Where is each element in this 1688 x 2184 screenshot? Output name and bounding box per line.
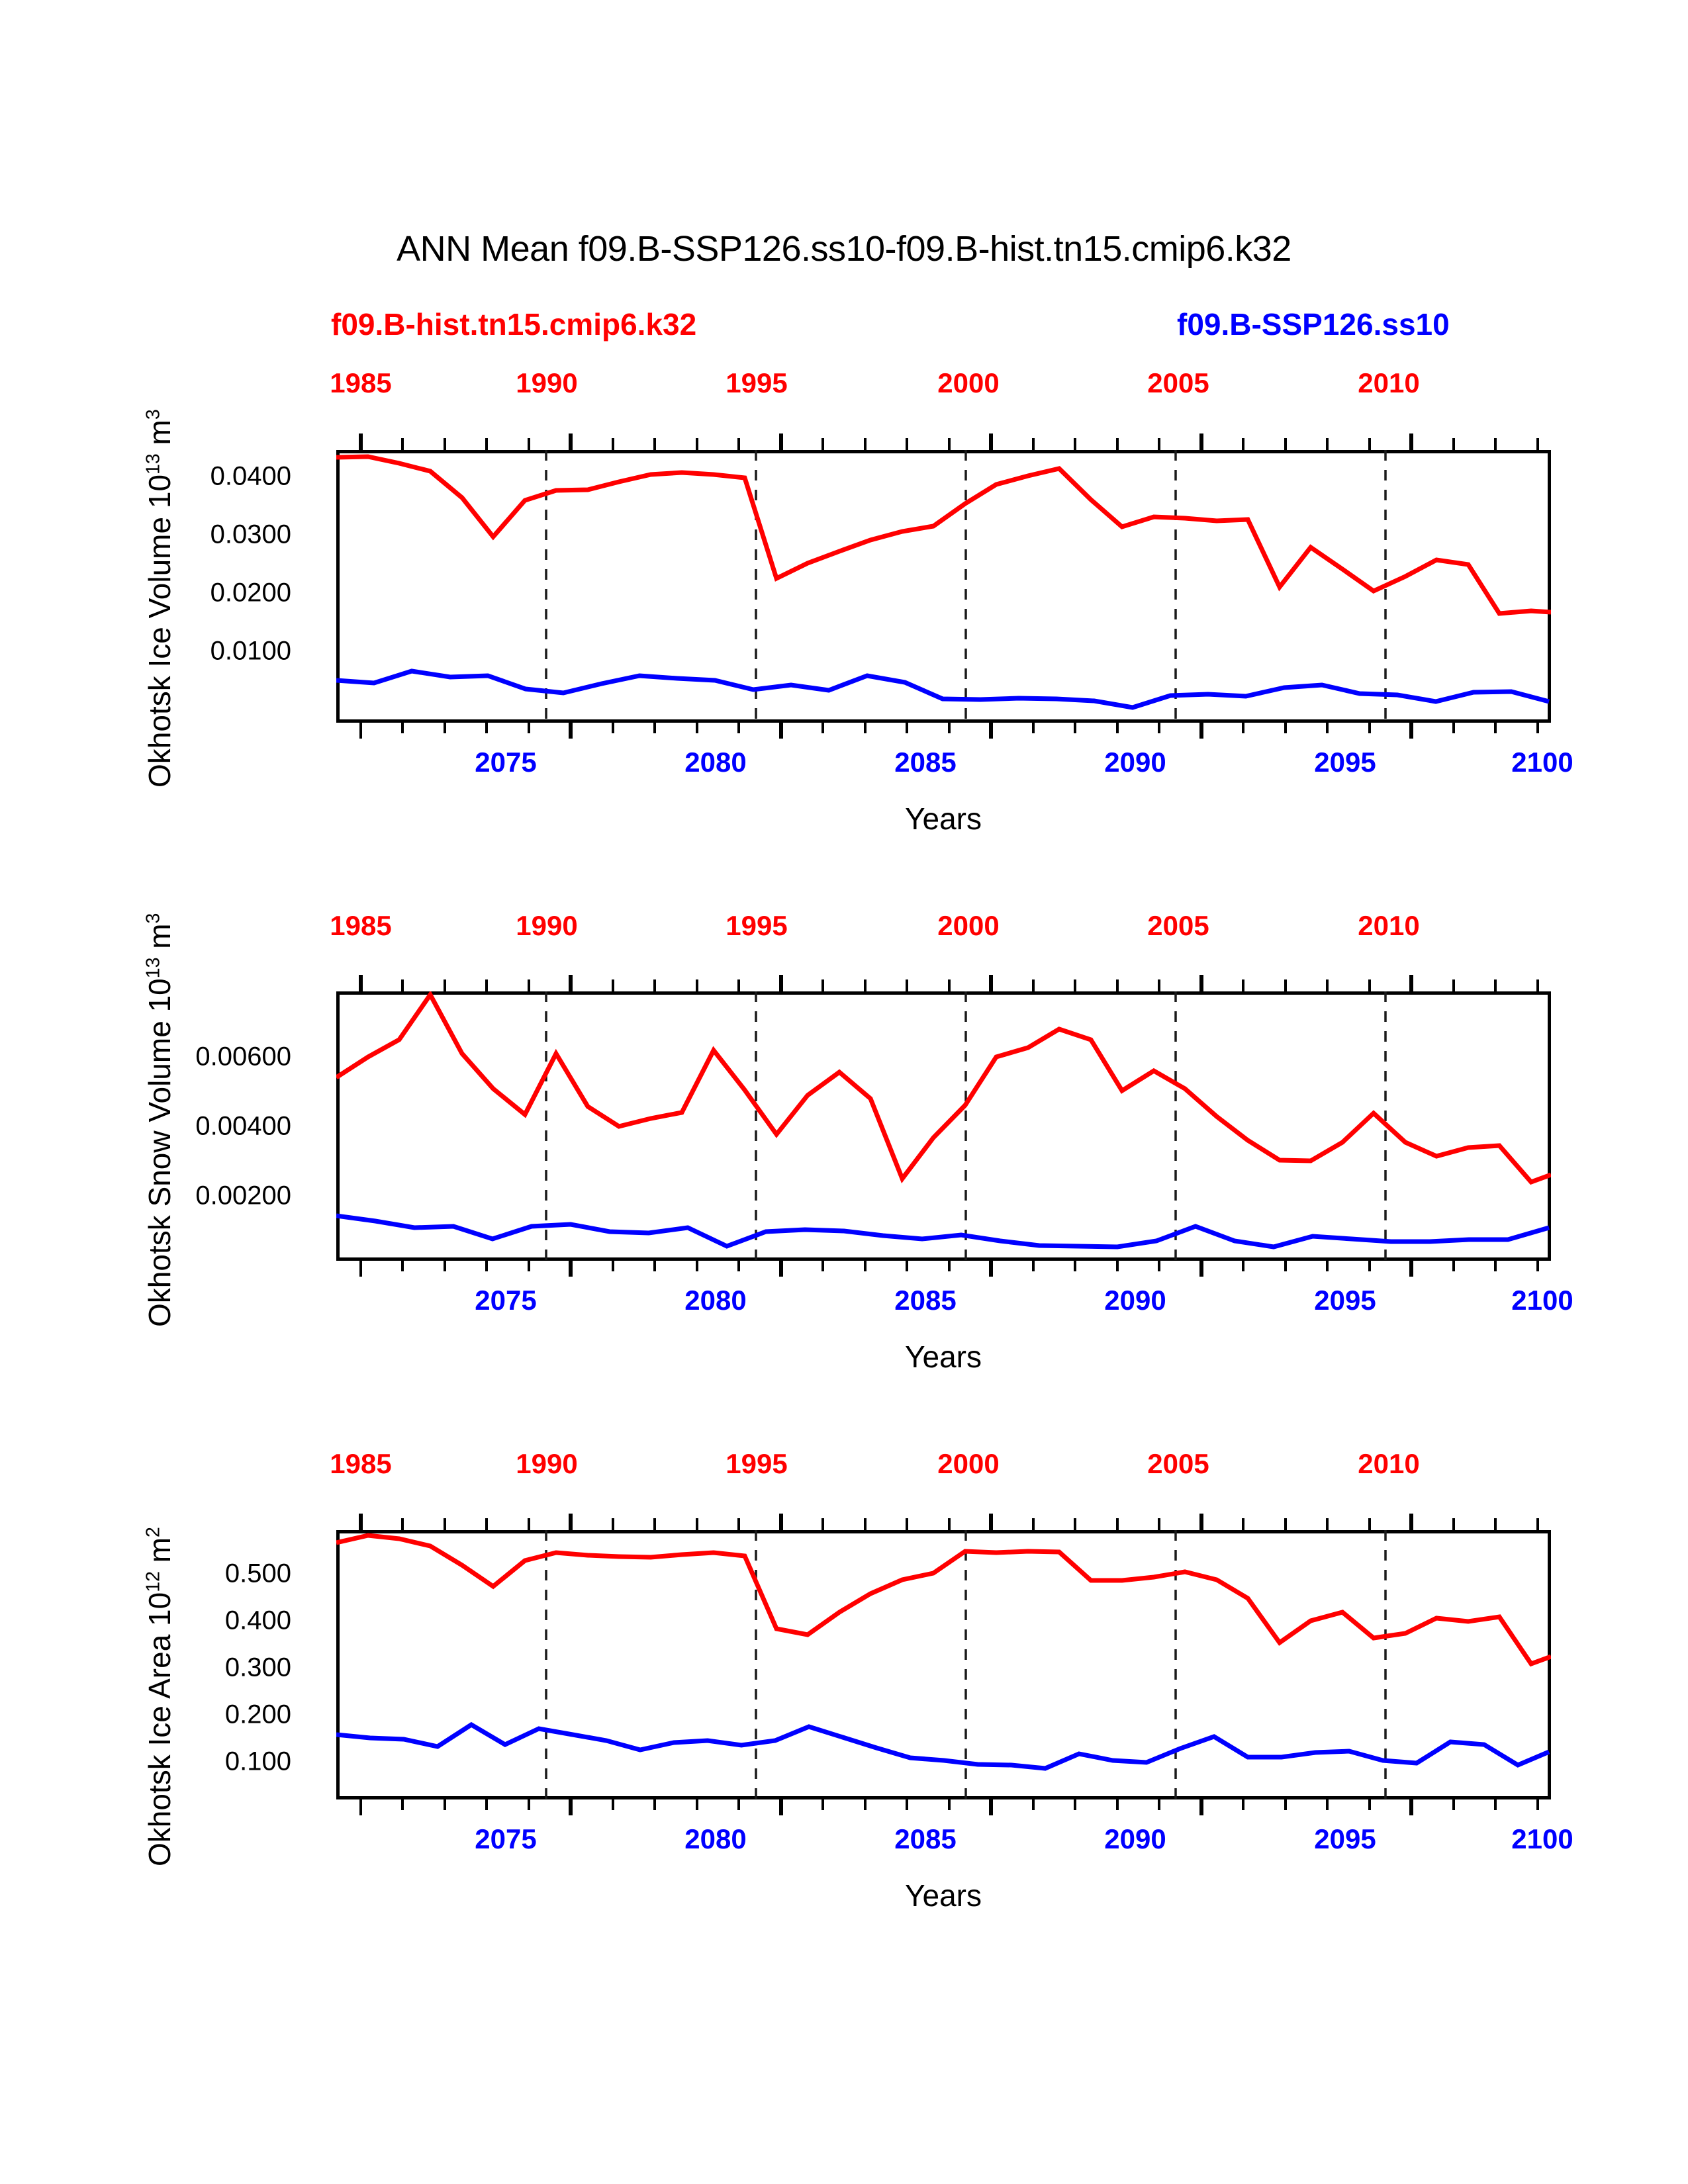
yaxis-title-panel3-unit-exp: 2 [143,1527,164,1537]
ytick-p3-0: 0.500 [165,1559,291,1589]
top-tick-1995-p2: 1995 [726,910,787,942]
ytick-p3-3: 0.200 [165,1700,291,1730]
bottom-tick-2075-p3: 2075 [475,1823,536,1855]
top-tick-1990-p2: 1990 [516,910,577,942]
top-tick-1990-p3: 1990 [516,1448,577,1480]
top-tick-2000-p3: 2000 [937,1448,999,1480]
ytick-p2-0: 0.00600 [142,1042,291,1072]
top-tick-1985-p2: 1985 [330,910,391,942]
top-tick-2005-p3: 2005 [1147,1448,1209,1480]
top-tick-1995-p3: 1995 [726,1448,787,1480]
bottom-tick-2095-p3: 2095 [1314,1823,1376,1855]
top-tick-2000-p2: 2000 [937,910,999,942]
top-tick-2010-p2: 2010 [1358,910,1419,942]
yaxis-title-panel2-unit-exp: 3 [143,913,164,924]
yaxis-title-panel2-text: Okhotsk Snow Volume 10 [142,978,177,1327]
panel-ice-area: Okhotsk Ice Area 1012 m2 1985 1990 1995 … [0,0,1688,794]
yaxis-title-panel2-unit: m [142,923,177,957]
bottom-tick-2100-p3: 2100 [1511,1823,1573,1855]
xaxis-title-panel2: Years [905,1339,982,1375]
tickmarks-panel2 [336,952,1558,1306]
ytick-p2-1: 0.00400 [142,1112,291,1142]
chart-page: ANN Mean f09.B-SSP126.ss10-f09.B-hist.tn… [0,0,1688,2184]
xaxis-title-panel3: Years [905,1878,982,1913]
ytick-p3-1: 0.400 [165,1606,291,1636]
ytick-p2-2: 0.00200 [142,1181,291,1211]
ytick-p3-2: 0.300 [165,1653,291,1683]
top-tick-2005-p2: 2005 [1147,910,1209,942]
yaxis-title-panel3-exp: 12 [143,1571,164,1592]
bottom-tick-2080-p2: 2080 [684,1285,746,1316]
yaxis-title-panel2-exp: 13 [143,958,164,979]
top-tick-1985-p3: 1985 [330,1448,391,1480]
bottom-tick-2085-p2: 2085 [894,1285,956,1316]
bottom-tick-2090-p3: 2090 [1104,1823,1166,1855]
bottom-tick-2090-p2: 2090 [1104,1285,1166,1316]
bottom-tick-2080-p3: 2080 [684,1823,746,1855]
tickmarks-panel3 [336,1490,1558,1844]
bottom-tick-2095-p2: 2095 [1314,1285,1376,1316]
bottom-tick-2075-p2: 2075 [475,1285,536,1316]
bottom-tick-2100-p2: 2100 [1511,1285,1573,1316]
bottom-tick-2085-p3: 2085 [894,1823,956,1855]
xaxis-title-panel1: Years [905,801,982,837]
top-tick-2010-p3: 2010 [1358,1448,1419,1480]
ytick-p3-4: 0.100 [165,1747,291,1777]
